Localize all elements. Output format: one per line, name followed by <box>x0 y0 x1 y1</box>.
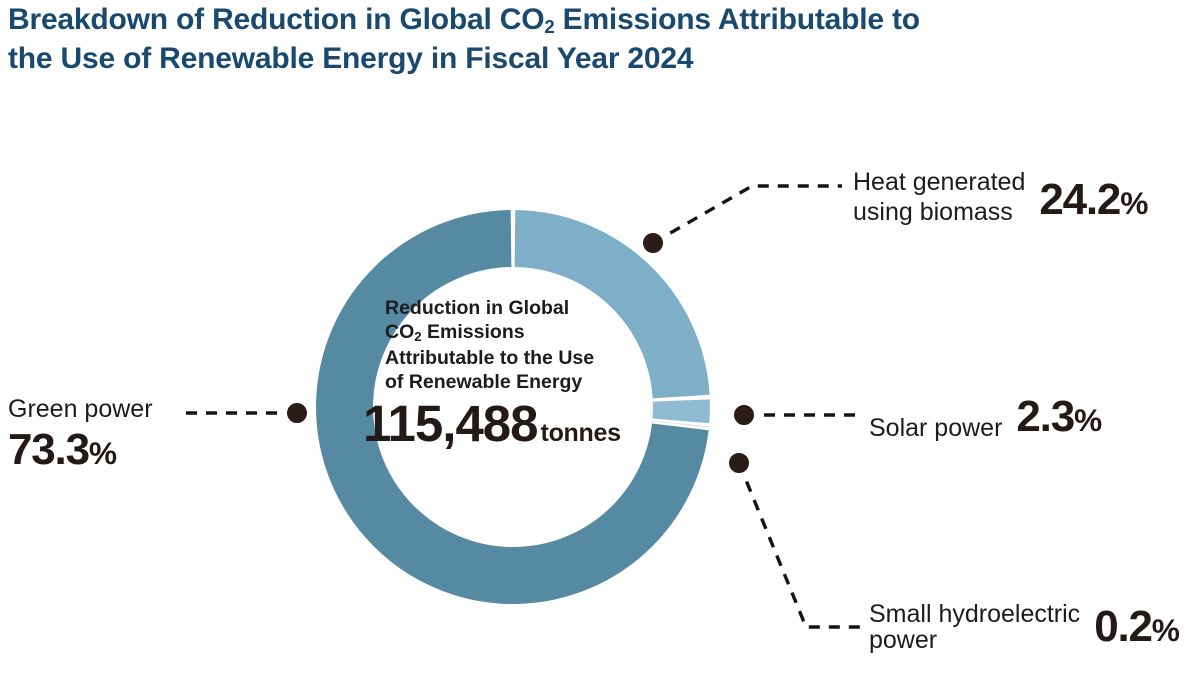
callout-green-power-label: Green power <box>8 394 338 424</box>
callout-biomass-value: 24.2% <box>1039 178 1147 227</box>
callout-small-hydro-label: Small hydroelectric power <box>869 601 1080 653</box>
chart-canvas: Breakdown of Reduction in Global CO2 Emi… <box>0 0 1200 675</box>
callout-small-hydro[interactable]: Small hydroelectric power 0.2% <box>869 601 1199 653</box>
leader-line-biomass <box>653 186 842 243</box>
callout-solar-power-symbol: % <box>1074 402 1101 438</box>
callout-solar-power[interactable]: Solar power 2.3% <box>869 395 1189 443</box>
slice-biomass-shape[interactable] <box>515 210 710 398</box>
callout-green-power[interactable]: Green power 73.3% <box>8 394 338 475</box>
callout-small-hydro-number: 0.2 <box>1094 602 1152 651</box>
slice-solar-shape[interactable] <box>653 399 710 423</box>
leader-line-hydro <box>739 463 862 627</box>
callout-green-power-value: 73.3% <box>8 428 338 475</box>
callout-green-power-symbol: % <box>89 435 116 471</box>
callout-dot-solar-icon[interactable] <box>733 404 756 427</box>
callout-solar-power-label: Solar power <box>869 413 1002 443</box>
callout-biomass-number: 24.2 <box>1039 175 1120 224</box>
callout-small-hydro-symbol: % <box>1152 612 1179 648</box>
callout-small-hydro-value: 0.2% <box>1094 605 1179 653</box>
callout-biomass-label: Heat generated using biomass <box>853 167 1025 227</box>
callout-solar-power-number: 2.3 <box>1016 392 1074 441</box>
callout-green-power-number: 73.3 <box>8 425 89 474</box>
callout-biomass-symbol: % <box>1120 185 1147 221</box>
callout-biomass[interactable]: Heat generated using biomass 24.2% <box>853 167 1193 227</box>
callout-dot-biomass-icon[interactable] <box>642 232 665 255</box>
callout-solar-power-value: 2.3% <box>1016 395 1101 443</box>
donut-chart <box>0 0 1200 675</box>
callout-dot-hydro-icon[interactable] <box>728 452 751 475</box>
donut-slices <box>316 210 710 604</box>
